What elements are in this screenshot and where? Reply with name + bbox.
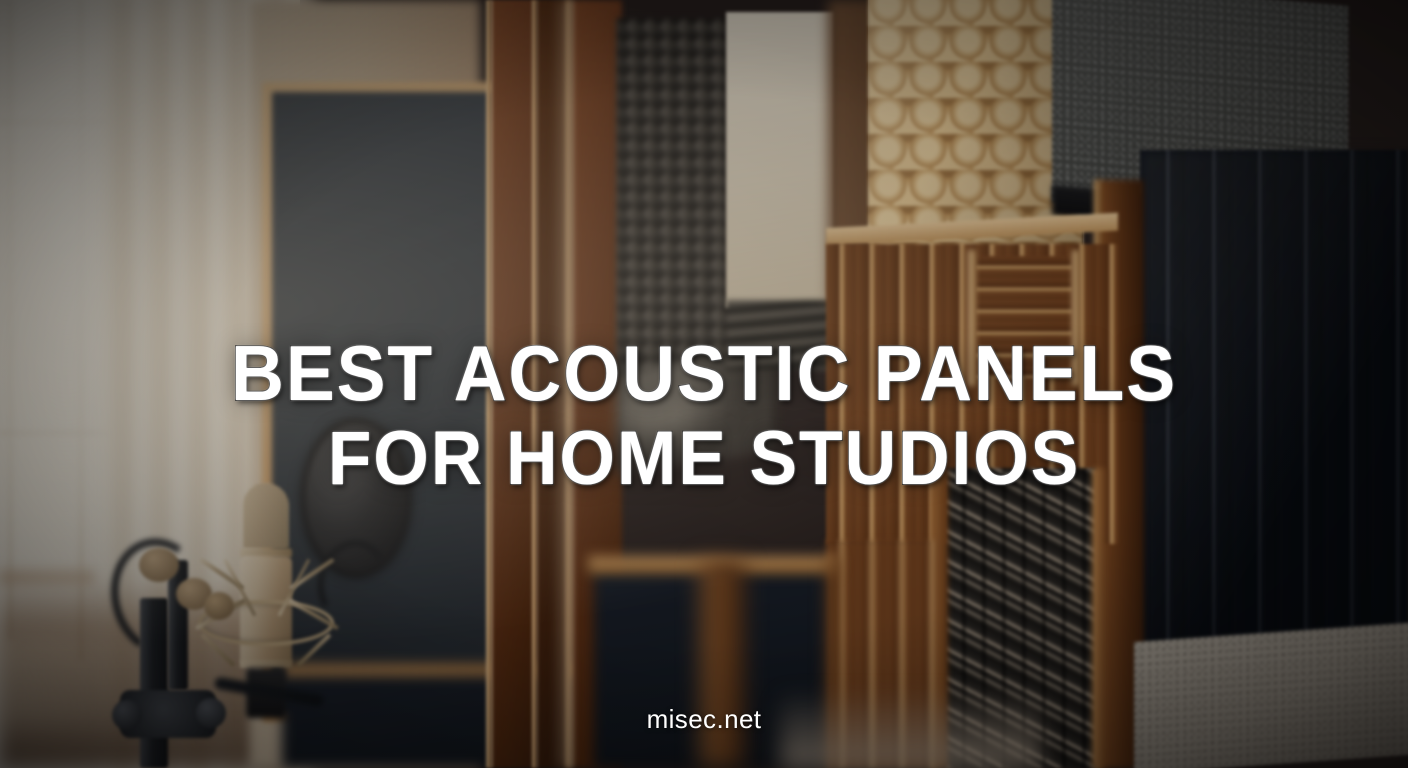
mic-stand-knob <box>204 592 234 620</box>
mic-stand-knob <box>196 698 226 728</box>
background-photo <box>0 0 1408 768</box>
hero-banner: BEST ACOUSTIC PANELS FOR HOME STUDIOS mi… <box>0 0 1408 768</box>
cabinet-divider <box>968 250 976 386</box>
mic-stand-knob <box>139 548 179 582</box>
foam-wedge-frame <box>1092 468 1106 768</box>
panel-wood-edge <box>486 0 491 768</box>
fabric-light <box>1134 622 1408 768</box>
microphone-ring <box>240 660 292 668</box>
panel-wood-edge <box>532 0 536 768</box>
foam-pyramid <box>616 18 728 378</box>
foreground-ledge <box>780 690 1040 768</box>
wood-highlight <box>560 0 572 768</box>
wood-post <box>700 560 744 768</box>
panel-cream <box>726 12 834 308</box>
panel-wood-slab <box>490 0 536 768</box>
mic-stand-knob <box>112 700 142 730</box>
mic-stand-column <box>140 598 168 768</box>
cabinet-divider <box>1072 250 1080 386</box>
slats-wood-horizontal <box>976 256 1072 378</box>
microphone-grille <box>243 483 289 549</box>
